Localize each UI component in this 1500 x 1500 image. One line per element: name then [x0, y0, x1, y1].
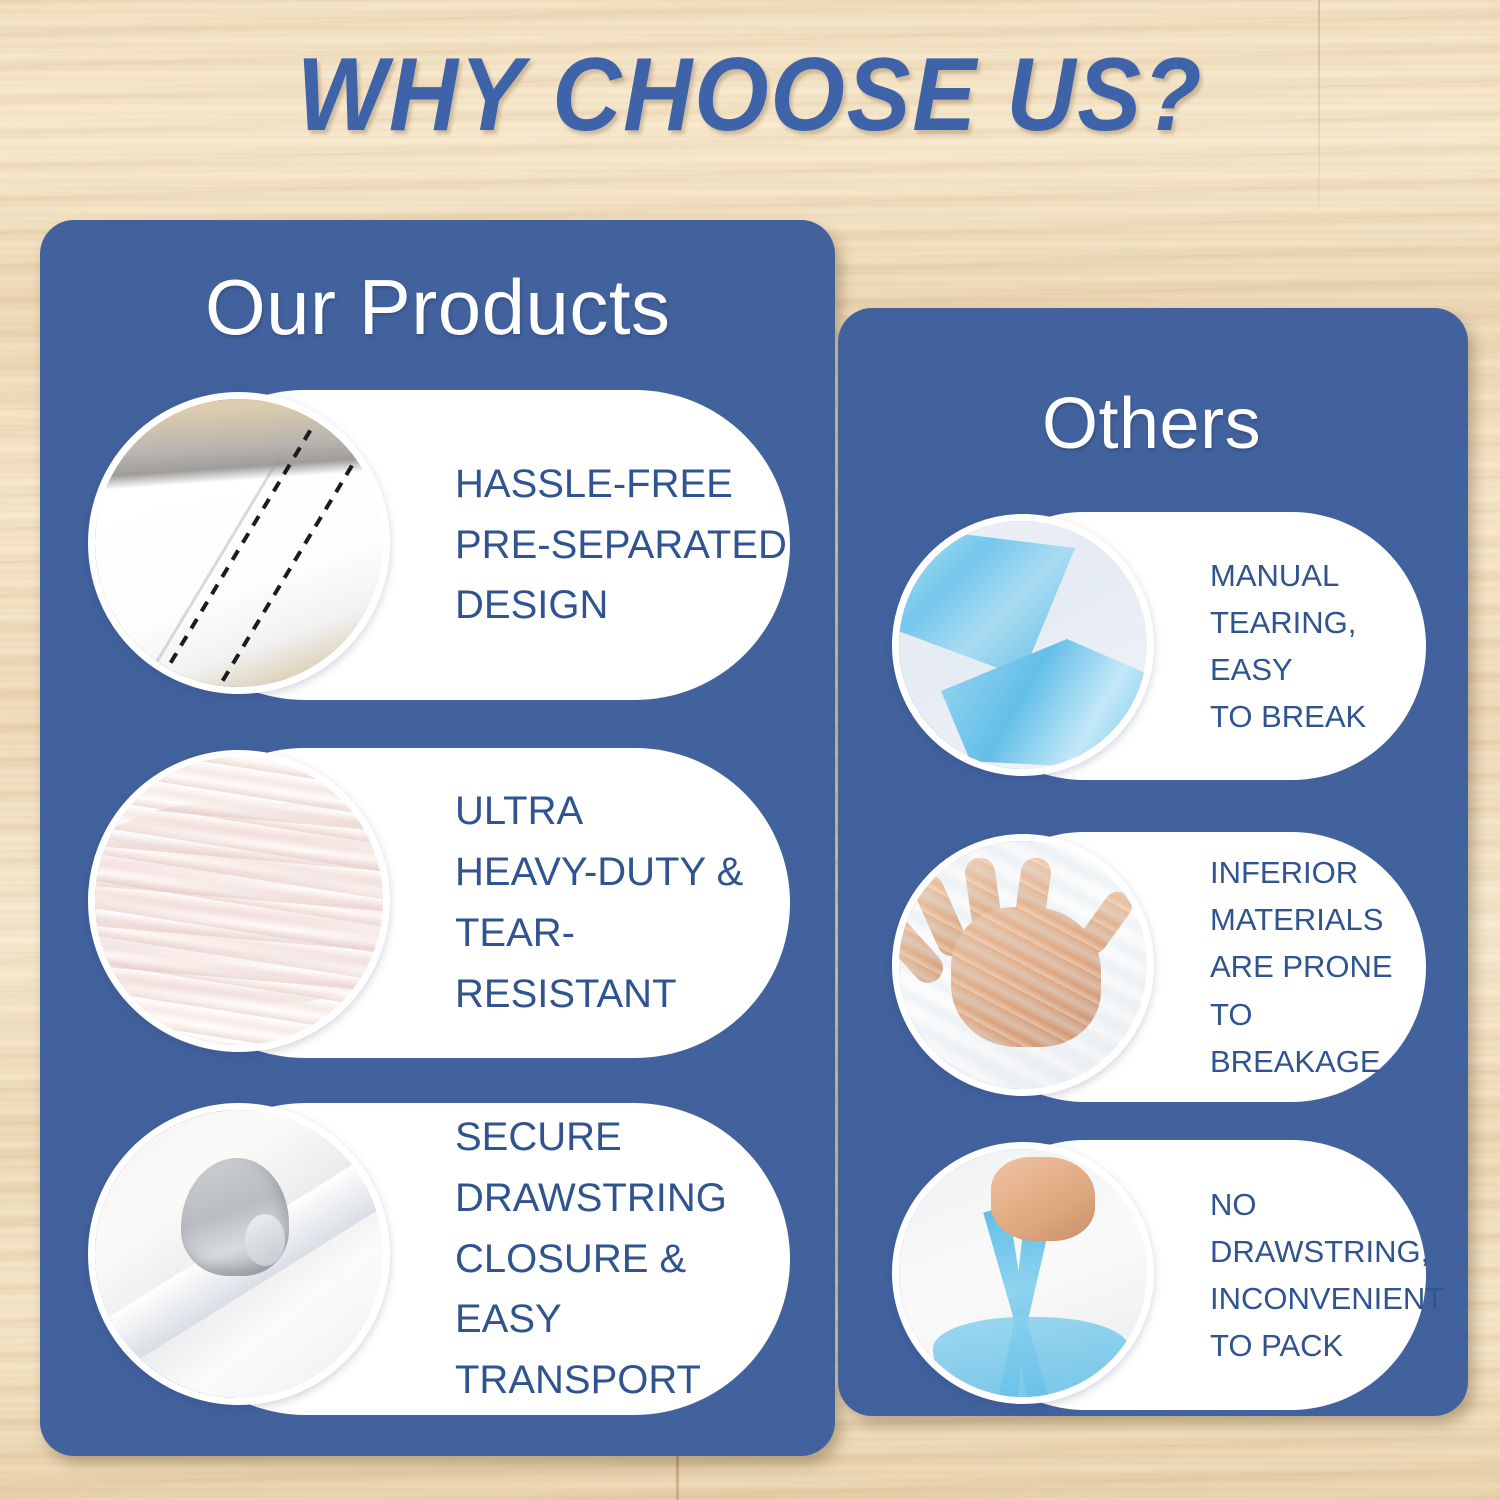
others-heading: Others — [1042, 383, 1261, 465]
white-drawstring-bag-hem-closeup-image — [88, 1103, 390, 1405]
hand-under-thin-clear-film-image — [892, 834, 1154, 1096]
drawback-card-no-drawstring: NO DRAWSTRING, INCONVENIENT TO PACK — [950, 1140, 1426, 1410]
feature-card-heavy-duty: ULTRA HEAVY-DUTY & TEAR-RESISTANT — [150, 748, 790, 1058]
drawback-card-inferior-materials: INFERIOR MATERIALS ARE PRONE TO BREAKAGE — [950, 832, 1426, 1102]
drawback-label-inferior-materials: INFERIOR MATERIALS ARE PRONE TO BREAKAGE — [1210, 849, 1426, 1085]
white-bags-with-perforated-tear-lines-image — [88, 392, 390, 694]
drawback-label-manual-tearing: MANUAL TEARING, EASY TO BREAK — [1210, 552, 1426, 740]
infographic-canvas: WHY CHOOSE US? Our Products HASSLE-FREE … — [0, 0, 1500, 1500]
feature-card-hassle-free: HASSLE-FREE PRE-SEPARATED DESIGN — [150, 390, 790, 700]
drawback-label-no-drawstring: NO DRAWSTRING, INCONVENIENT TO PACK — [1210, 1181, 1444, 1369]
feature-label-heavy-duty: ULTRA HEAVY-DUTY & TEAR-RESISTANT — [455, 781, 790, 1024]
feature-card-drawstring: SECURE DRAWSTRING CLOSURE & EASY TRANSPO… — [150, 1103, 790, 1415]
feature-label-drawstring: SECURE DRAWSTRING CLOSURE & EASY TRANSPO… — [455, 1107, 790, 1411]
stretched-translucent-plastic-film-image — [88, 750, 390, 1052]
torn-blue-plastic-bag-image — [892, 514, 1154, 776]
hand-holding-blue-bag-handles-image — [892, 1142, 1154, 1404]
our-products-heading: Our Products — [205, 262, 671, 353]
page-title: WHY CHOOSE US? — [60, 36, 1440, 155]
drawback-card-manual-tearing: MANUAL TEARING, EASY TO BREAK — [950, 512, 1426, 780]
feature-label-hassle-free: HASSLE-FREE PRE-SEPARATED DESIGN — [455, 454, 787, 636]
